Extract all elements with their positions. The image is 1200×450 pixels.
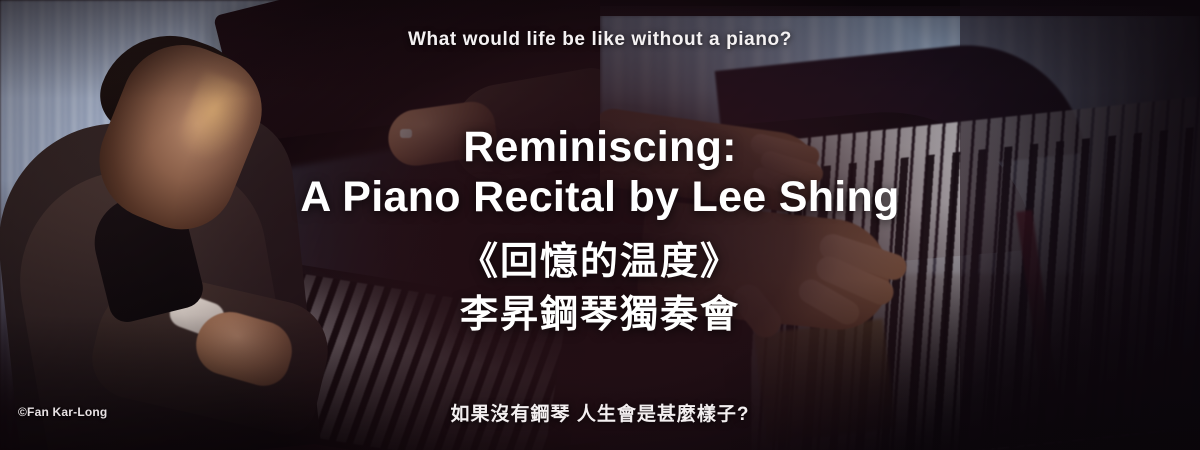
english-title-block: Reminiscing: A Piano Recital by Lee Shin…: [0, 122, 1200, 222]
chinese-tagline: 如果沒有鋼琴 人生會是甚麼樣子?: [0, 399, 1200, 426]
banner-text-content: What would life be like without a piano?…: [0, 0, 1200, 450]
title-line-1: Reminiscing:: [0, 122, 1200, 172]
recital-promo-banner: STEINWAY: [0, 0, 1200, 450]
chinese-title-line-1: 《回憶的温度》: [0, 236, 1200, 289]
chinese-title-line-2: 李昇鋼琴獨奏會: [0, 289, 1200, 342]
photo-credit: ©Fan Kar-Long: [18, 405, 107, 419]
title-line-2: A Piano Recital by Lee Shing: [0, 172, 1200, 222]
chinese-title-block: 《回憶的温度》 李昇鋼琴獨奏會: [0, 236, 1200, 342]
english-tagline: What would life be like without a piano?: [0, 29, 1200, 51]
